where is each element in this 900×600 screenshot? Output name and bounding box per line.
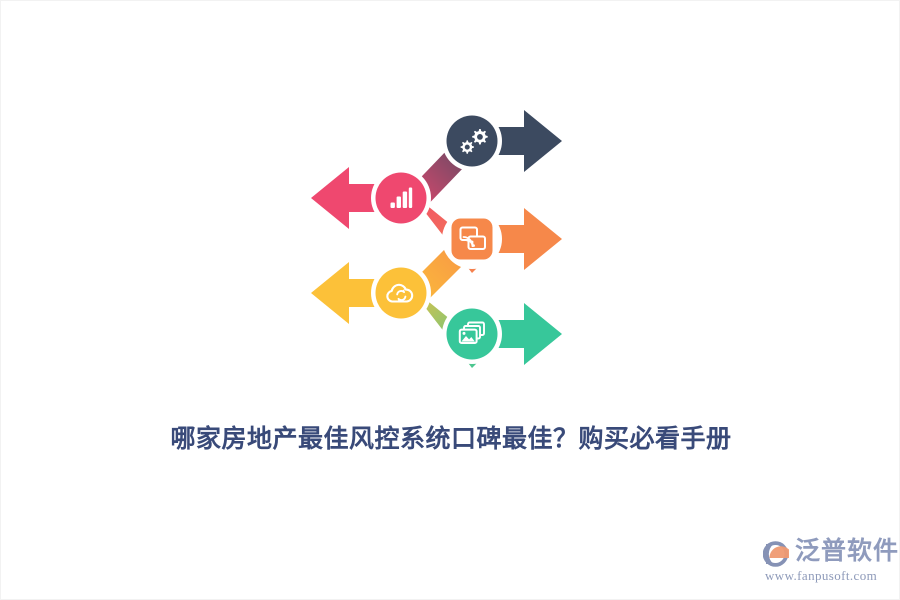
process-node-gears[interactable] — [442, 110, 562, 172]
process-node-cloud-sync[interactable] — [311, 262, 431, 324]
process-node-photo-stack[interactable] — [442, 303, 562, 365]
arrow-process-infographic — [296, 96, 586, 386]
brand-logo[interactable]: 泛普软件 www.fanpusoft.com — [763, 535, 887, 587]
page-title: 哪家房地产最佳风控系统口碑最佳？购买必看手册 — [1, 419, 900, 459]
process-node-screen-cast[interactable] — [442, 208, 562, 270]
process-node-bar-chart[interactable] — [311, 167, 431, 229]
brand-url: www.fanpusoft.com — [765, 568, 877, 584]
node-circle-yellow[interactable] — [376, 268, 427, 319]
node-circle-navy[interactable] — [447, 116, 498, 167]
brand-name: 泛普软件 — [795, 535, 899, 567]
page-canvas: 哪家房地产最佳风控系统口碑最佳？购买必看手册 泛普软件 www.fanpusof… — [0, 0, 900, 600]
fanpu-logo-mark-icon — [763, 539, 793, 569]
